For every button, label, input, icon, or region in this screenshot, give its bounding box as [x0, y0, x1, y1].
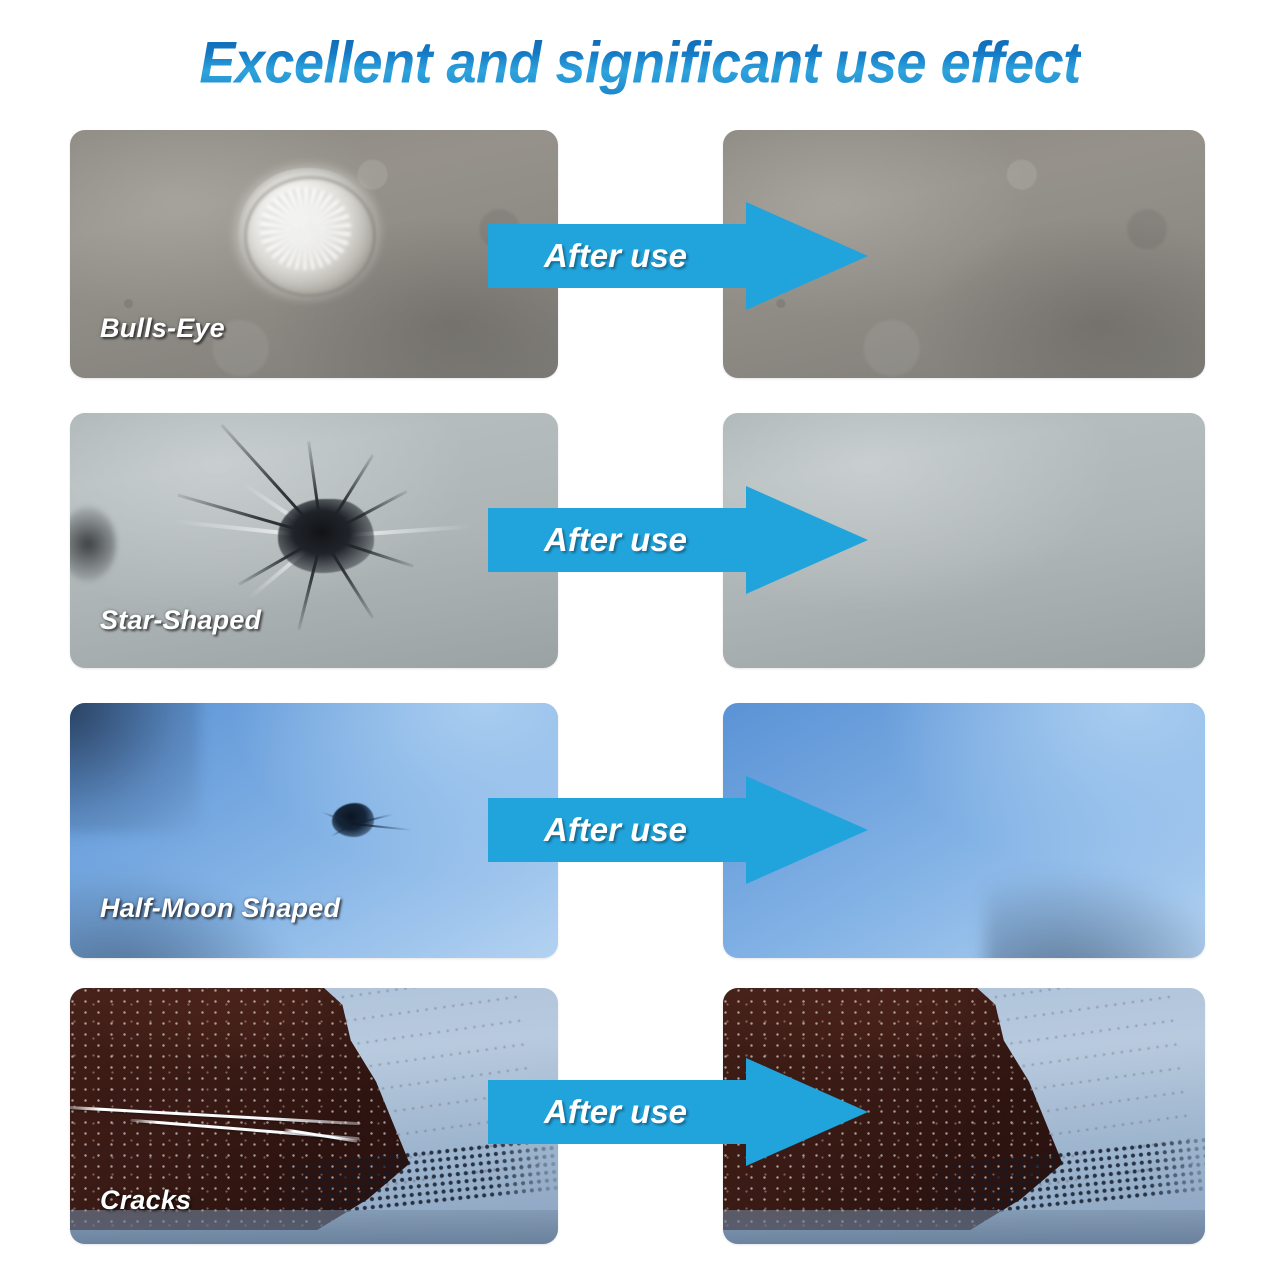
comparison-rows: Bulls-Eye After use	[0, 0, 1280, 1280]
after-use-arrow: After use	[488, 202, 868, 310]
arrow-head-icon	[746, 776, 868, 884]
comparison-row-bulls-eye: Bulls-Eye After use	[70, 130, 1205, 378]
crack-core	[278, 499, 374, 573]
glass-smudge	[70, 507, 116, 581]
car-hood-edge	[723, 1210, 1205, 1244]
before-image-half-moon[interactable]: Half-Moon Shaped	[70, 703, 558, 958]
arrow-head-icon	[746, 202, 868, 310]
damage-type-label: Half-Moon Shaped	[100, 893, 340, 924]
comparison-row-cracks: Cracks After use	[70, 988, 1205, 1244]
after-use-arrow: After use	[488, 1058, 868, 1166]
before-image-star-shaped[interactable]: Star-Shaped	[70, 413, 558, 668]
damage-type-label: Star-Shaped	[100, 605, 261, 636]
arrow-label: After use	[544, 811, 687, 849]
sky-shadow-bottom	[985, 868, 1205, 958]
damage-type-label: Bulls-Eye	[100, 313, 225, 344]
sky-shadow-corner	[70, 703, 200, 833]
arrow-label: After use	[544, 1093, 687, 1131]
damage-type-label: Cracks	[100, 1185, 191, 1216]
arrow-head-icon	[746, 486, 868, 594]
bulls-eye-damage-icon	[238, 168, 376, 296]
after-use-arrow: After use	[488, 776, 868, 884]
comparison-row-half-moon: Half-Moon Shaped After use	[70, 703, 1205, 958]
after-use-arrow: After use	[488, 486, 868, 594]
half-moon-damage-icon	[310, 795, 450, 875]
arrow-label: After use	[544, 521, 687, 559]
before-image-cracks[interactable]: Cracks	[70, 988, 558, 1244]
arrow-label: After use	[544, 237, 687, 275]
before-image-bulls-eye[interactable]: Bulls-Eye	[70, 130, 558, 378]
comparison-row-star-shaped: Star-Shaped After use	[70, 413, 1205, 668]
arrow-head-icon	[746, 1058, 868, 1166]
